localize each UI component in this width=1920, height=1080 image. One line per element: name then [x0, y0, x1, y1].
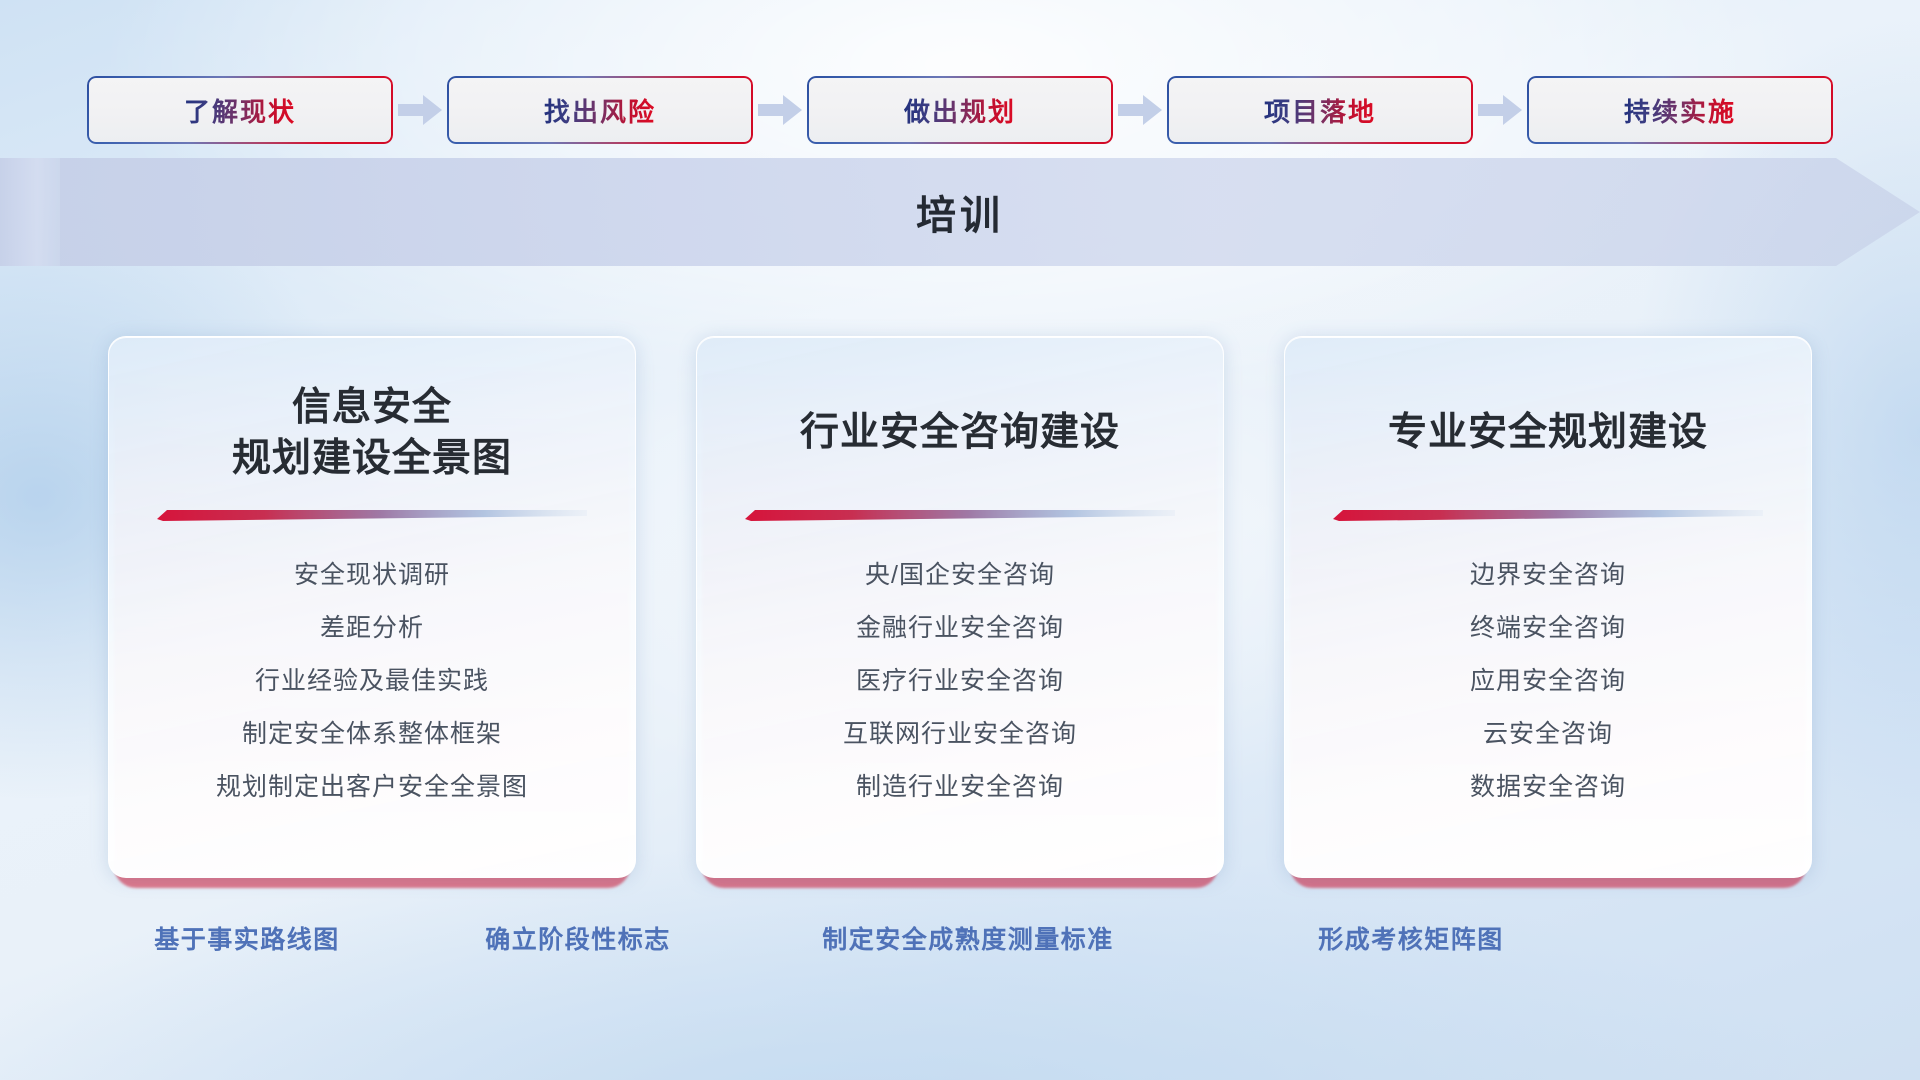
card-row: 信息安全 规划建设全景图 [0, 336, 1920, 878]
list-item: 规划制定出客户安全全景图 [216, 767, 528, 803]
step-label: 做出规划 [904, 92, 1016, 129]
step-box-4[interactable]: 项目落地 [1167, 76, 1473, 144]
card-industry-security-consulting[interactable]: 行业安全咨询建设 央/国 [696, 336, 1224, 878]
card-title: 行业安全咨询建设 [800, 381, 1120, 485]
list-item: 云安全咨询 [1483, 714, 1613, 750]
card-title-line-1: 行业安全咨询建设 [800, 407, 1120, 458]
list-item: 金融行业安全咨询 [856, 608, 1064, 644]
card-title: 专业安全规划建设 [1388, 381, 1708, 485]
list-item: 医疗行业安全咨询 [856, 661, 1064, 697]
list-item: 行业经验及最佳实践 [255, 661, 489, 697]
list-item: 制定安全体系整体框架 [242, 714, 502, 750]
card-title-line-1: 专业安全规划建设 [1388, 407, 1708, 458]
list-item: 制造行业安全咨询 [856, 767, 1064, 803]
card-item-list: 央/国企安全咨询 金融行业安全咨询 医疗行业安全咨询 互联网行业安全咨询 制造行… [727, 555, 1193, 803]
arrow-right-icon [393, 93, 447, 127]
footer-label-row: 基于事实路线图 确立阶段性标志 制定安全成熟度测量标准 形成考核矩阵图 [0, 920, 1920, 966]
footer-label-3: 制定安全成熟度测量标准 [822, 920, 1114, 956]
card-item-list: 安全现状调研 差距分析 行业经验及最佳实践 制定安全体系整体框架 规划制定出客户… [139, 555, 605, 803]
arrow-right-icon [1113, 93, 1167, 127]
step-box-2[interactable]: 找出风险 [447, 76, 753, 144]
arrow-right-icon [753, 93, 807, 127]
arrow-right-icon [1473, 93, 1527, 127]
card-divider [1333, 507, 1763, 523]
footer-label-1: 基于事实路线图 [154, 920, 340, 956]
step-label: 项目落地 [1264, 92, 1376, 129]
step-box-3[interactable]: 做出规划 [807, 76, 1113, 144]
list-item: 数据安全咨询 [1470, 767, 1626, 803]
step-label: 持续实施 [1624, 92, 1736, 129]
card-1-wrapper: 信息安全 规划建设全景图 [108, 336, 636, 878]
card-information-security-blueprint[interactable]: 信息安全 规划建设全景图 [108, 336, 636, 878]
card-divider [745, 507, 1175, 523]
training-banner: 培训 [0, 158, 1920, 266]
list-item: 终端安全咨询 [1470, 608, 1626, 644]
list-item: 应用安全咨询 [1470, 661, 1626, 697]
card-title: 信息安全 规划建设全景图 [232, 381, 512, 485]
step-box-5[interactable]: 持续实施 [1527, 76, 1833, 144]
card-title-line-2: 规划建设全景图 [232, 437, 512, 480]
list-item: 边界安全咨询 [1470, 555, 1626, 591]
footer-label-4: 形成考核矩阵图 [1318, 920, 1504, 956]
list-item: 安全现状调研 [294, 555, 450, 591]
list-item: 央/国企安全咨询 [865, 555, 1055, 591]
banner-title: 培训 [0, 158, 1920, 266]
footer-label-2: 确立阶段性标志 [485, 920, 671, 956]
process-step-row: 了解现状 找出风险 做出规划 项目落地 持续实施 [0, 76, 1920, 144]
card-2-wrapper: 行业安全咨询建设 央/国 [696, 336, 1224, 878]
list-item: 互联网行业安全咨询 [843, 714, 1077, 750]
card-divider [157, 507, 587, 523]
card-3-wrapper: 专业安全规划建设 边界安 [1284, 336, 1812, 878]
step-label: 找出风险 [544, 92, 656, 129]
step-box-1[interactable]: 了解现状 [87, 76, 393, 144]
step-label: 了解现状 [184, 92, 296, 129]
card-item-list: 边界安全咨询 终端安全咨询 应用安全咨询 云安全咨询 数据安全咨询 [1315, 555, 1781, 803]
card-title-line-1: 信息安全 [292, 386, 452, 429]
card-professional-security-planning[interactable]: 专业安全规划建设 边界安 [1284, 336, 1812, 878]
list-item: 差距分析 [320, 608, 424, 644]
